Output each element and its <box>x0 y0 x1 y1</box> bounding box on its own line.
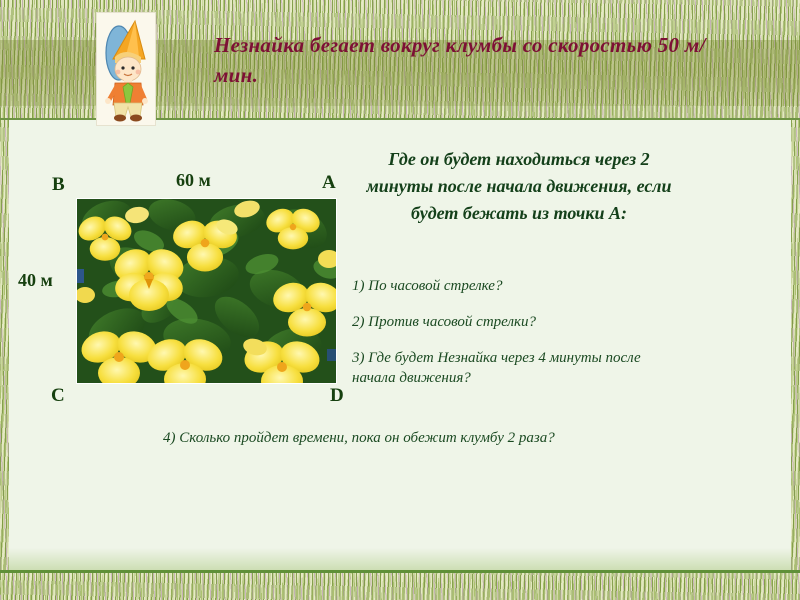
slide: Незнайка бегает вокруг клумбы со скорост… <box>0 0 800 600</box>
slide-title: Незнайка бегает вокруг клумбы со скорост… <box>214 30 714 90</box>
right-edge-grass <box>791 120 800 572</box>
figure-corner-label-b: B <box>52 175 65 194</box>
dunno-figure-icon <box>97 13 155 123</box>
figure-dimension-left: 40 м <box>18 271 53 290</box>
figure-corner-label-d: D <box>330 386 344 405</box>
question-heading: Где он будет находиться через 2 минуты п… <box>364 146 674 227</box>
figure-dimension-top: 60 м <box>176 171 211 190</box>
question-list: 1) По часовой стрелке? 2) Против часовой… <box>352 276 752 404</box>
question-item-2: 2) Против часовой стрелки? <box>352 312 752 332</box>
footer-grass-background <box>0 573 800 600</box>
question-item-4: 4) Сколько пройдет времени, пока он обеж… <box>163 428 723 448</box>
left-edge-grass <box>0 120 9 572</box>
figure-corner-label-a: A <box>322 173 336 192</box>
question-item-3: 3) Где будет Незнайка через 4 минуты пос… <box>352 348 682 388</box>
footer-fade <box>9 548 791 570</box>
flower-bed-photo <box>76 198 337 384</box>
dunno-character-illustration <box>96 12 156 126</box>
question-item-1: 1) По часовой стрелке? <box>352 276 752 296</box>
figure-corner-label-c: C <box>51 386 65 405</box>
